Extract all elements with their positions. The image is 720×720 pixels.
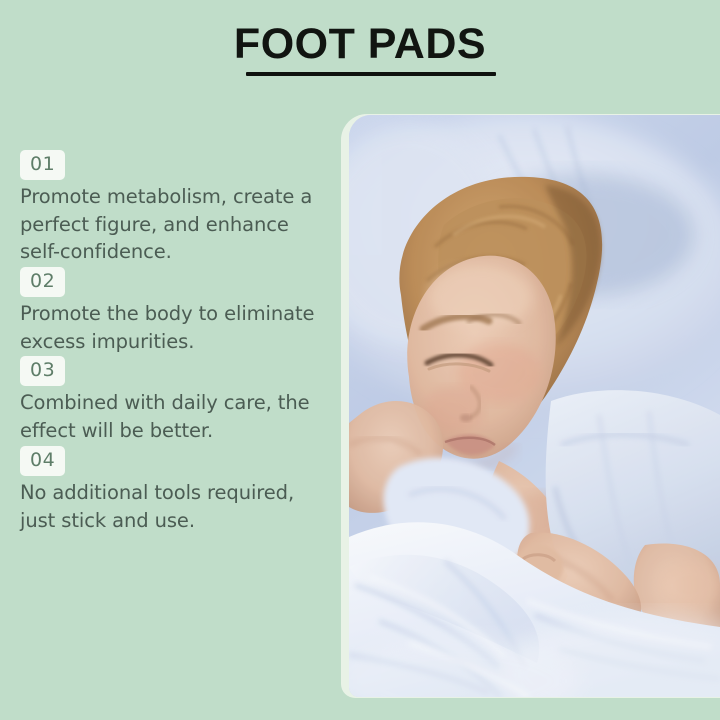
list-item: 04 No additional tools required, just st… (20, 446, 338, 534)
list-item: 01 Promote metabolism, create a perfect … (20, 150, 338, 266)
feature-list: 01 Promote metabolism, create a perfect … (20, 150, 338, 535)
feature-description: Combined with daily care, the effect wil… (20, 389, 332, 444)
feature-description: No additional tools required, just stick… (20, 479, 332, 534)
title-underline-rule (246, 72, 496, 76)
list-item: 02 Promote the body to eliminate excess … (20, 267, 338, 355)
foot-pads-product-poster: FOOT PADS 01 Promote metabolism, create … (0, 0, 720, 720)
page-title-text: FOOT PADS (0, 22, 720, 67)
feature-number-badge: 04 (20, 446, 65, 476)
sleeping-woman-photo (349, 115, 720, 697)
list-item: 03 Combined with daily care, the effect … (20, 356, 338, 444)
feature-number-badge: 03 (20, 356, 65, 386)
page-title: FOOT PADS (0, 22, 720, 67)
feature-number-badge: 02 (20, 267, 65, 297)
photo-frame (341, 114, 720, 698)
feature-description: Promote the body to eliminate excess imp… (20, 300, 332, 355)
feature-number-badge: 01 (20, 150, 65, 180)
feature-description: Promote metabolism, create a perfect fig… (20, 183, 332, 266)
